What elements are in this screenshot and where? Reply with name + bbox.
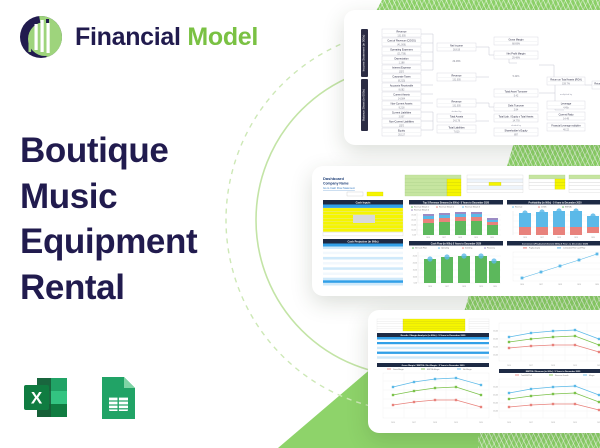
svg-text:Margin: Margin [589, 375, 595, 377]
svg-text:2018: 2018 [462, 286, 466, 288]
svg-text:4.49x: 4.49x [563, 107, 569, 109]
svg-text:Corporate Taxes: Corporate Taxes [392, 76, 411, 79]
svg-text:Cumulative Free Cash Flow: Cumulative Free Cash Flow [563, 247, 586, 250]
svg-text:Current Liabilities: Current Liabilities [392, 112, 412, 115]
svg-text:Operating Expenses: Operating Expenses [390, 49, 413, 52]
svg-text:2019: 2019 [574, 237, 578, 239]
svg-text:Revenue: Revenue [451, 75, 462, 78]
svg-text:Return on Equity (ROE): Return on Equity (ROE) [594, 83, 600, 86]
svg-text:Total Liab. / Equity x Total A: Total Liab. / Equity x Total Assets [499, 116, 535, 119]
svg-text:Total Assets: Total Assets [450, 116, 464, 119]
svg-text:2019: 2019 [474, 237, 478, 239]
svg-text:Balance Sheet (in 000s): Balance Sheet (in 000s) [362, 89, 366, 121]
svg-text:131,005: 131,005 [397, 35, 406, 37]
svg-text:divided by: divided by [511, 125, 522, 127]
svg-text:2020: 2020 [595, 284, 599, 286]
svg-text:divided by: divided by [452, 111, 463, 113]
screenshot-card-financial-tree[interactable]: Income Statement (in 000s) Balance Sheet… [344, 10, 600, 145]
svg-text:Gross Margin: Gross Margin [508, 39, 524, 42]
svg-text:Accounts Receivable: Accounts Receivable [390, 85, 414, 88]
brand-logo: Financial Model [18, 14, 258, 60]
svg-text:Depreciation: Depreciation [394, 58, 409, 61]
svg-text:Leverage: Leverage [561, 103, 572, 106]
svg-text:10,000: 10,000 [411, 230, 416, 232]
svg-text:Cash Inputs: Cash Inputs [356, 200, 371, 204]
svg-text:2020: 2020 [493, 286, 497, 288]
svg-text:2018: 2018 [551, 422, 555, 424]
svg-text:30,000: 30,000 [493, 403, 498, 405]
svg-text:Total EBITDA: Total EBITDA [521, 374, 533, 377]
svg-text:Go to Cash Flow Statement: Go to Cash Flow Statement [323, 186, 355, 190]
svg-text:Top 5 Revenue Streams (in 000s: Top 5 Revenue Streams (in 000s) - 5 Year… [423, 201, 490, 204]
google-sheets-icon[interactable] [92, 372, 144, 424]
svg-text:Interest Expense: Interest Expense [392, 67, 411, 70]
svg-text:Financial Leverage multiplier: Financial Leverage multiplier [551, 125, 580, 128]
svg-text:2019: 2019 [573, 365, 577, 367]
financial-tree-diagram: Income Statement (in 000s) Balance Sheet… [344, 10, 600, 145]
svg-text:5.42%: 5.42% [513, 75, 521, 78]
poster-canvas: Financial Model Boutique Music Equipment… [0, 0, 600, 448]
svg-text:2018: 2018 [433, 422, 437, 424]
dashboard-svg: Dashboard Company Name Go to Cash Flow S… [317, 171, 600, 291]
svg-text:2019: 2019 [573, 422, 577, 424]
file-format-icons: X [20, 372, 144, 424]
svg-text:Revenue Stream 3: Revenue Stream 3 [465, 206, 480, 209]
svg-text:2020: 2020 [479, 422, 483, 424]
excel-icon[interactable]: X [20, 372, 72, 424]
svg-text:Investment (Payback) Chart (in: Investment (Payback) Chart (in 000s) 5 Y… [522, 242, 589, 245]
svg-text:2016: 2016 [507, 422, 511, 424]
svg-text:10,000: 10,000 [413, 277, 417, 279]
screenshot-card-dashboard[interactable]: Dashboard Company Name Go to Cash Flow S… [312, 166, 600, 296]
report-svg: Results / Margin Analysis (in 000s) - 5 … [373, 315, 600, 428]
page-title-line-2: Music [20, 174, 260, 220]
svg-text:20,117: 20,117 [398, 134, 406, 136]
svg-text:Shareholder's Equity: Shareholder's Equity [505, 130, 529, 133]
svg-text:Revenue Stream 1: Revenue Stream 1 [414, 206, 429, 209]
svg-text:68.69%: 68.69% [512, 43, 520, 45]
svg-text:Investing: Investing [465, 247, 472, 250]
svg-text:30,000: 30,000 [493, 347, 498, 349]
svg-text:Return on Total Assets (ROA): Return on Total Assets (ROA) [550, 79, 582, 82]
svg-text:40.22: 40.22 [563, 129, 569, 131]
svg-text:(41,008): (41,008) [397, 44, 406, 46]
page-title-line-3: Equipment [20, 219, 260, 265]
svg-text:159.7%: 159.7% [562, 83, 570, 85]
svg-text:2016: 2016 [426, 237, 430, 239]
svg-text:5.42: 5.42 [514, 95, 519, 97]
svg-text:2019: 2019 [454, 422, 458, 424]
page-title-line-1: Boutique [20, 128, 260, 174]
svg-text:Cash Projection (in 000s): Cash Projection (in 000s) [348, 239, 379, 243]
svg-text:1,188: 1,188 [399, 62, 405, 64]
svg-text:15,000: 15,000 [413, 270, 417, 272]
svg-text:2016: 2016 [523, 237, 527, 239]
svg-text:14.49: 14.49 [563, 118, 569, 120]
svg-text:Cost of Revenue (COGS): Cost of Revenue (COGS) [387, 40, 416, 43]
svg-text:Total Liabilities: Total Liabilities [448, 127, 465, 130]
svg-text:Non-Current Liabilities: Non-Current Liabilities [389, 121, 414, 124]
svg-text:2017: 2017 [540, 237, 544, 239]
svg-text:Gross Margin / EBITDA / Net Ma: Gross Margin / EBITDA / Net Margin - 5 Y… [402, 364, 466, 367]
svg-text:40,000: 40,000 [493, 339, 498, 341]
svg-text:Financing: Financing [487, 248, 495, 250]
brand-name: Financial Model [75, 23, 258, 52]
svg-text:multiplied by: multiplied by [560, 93, 573, 96]
svg-text:20,000: 20,000 [493, 355, 498, 357]
svg-text:Company Name: Company Name [323, 182, 349, 186]
svg-text:2017: 2017 [539, 284, 543, 286]
svg-text:38,619: 38,619 [453, 49, 461, 51]
svg-text:2019: 2019 [479, 286, 483, 288]
svg-text:29.48%: 29.48% [452, 60, 461, 63]
svg-text:Total Asset Turnover: Total Asset Turnover [505, 91, 528, 94]
svg-text:Net Cash Flow: Net Cash Flow [415, 247, 427, 250]
svg-text:Net Margin: Net Margin [463, 368, 472, 371]
svg-text:7,610: 7,610 [454, 131, 460, 133]
brand-name-part2: Model [187, 23, 258, 51]
svg-text:(237): (237) [399, 71, 405, 73]
svg-text:Profitability (in 000s) - 5 Ye: Profitability (in 000s) - 5 Years to Dec… [529, 201, 583, 204]
svg-text:2017: 2017 [529, 422, 533, 424]
svg-text:Net Profit Margin: Net Profit Margin [507, 53, 526, 56]
financial-report-charts: Results / Margin Analysis (in 000s) - 5 … [368, 310, 600, 433]
svg-text:Revenue Growth: Revenue Growth [555, 374, 568, 377]
svg-text:Current Ratio: Current Ratio [559, 114, 574, 117]
svg-text:Operating: Operating [441, 247, 449, 250]
svg-text:5,000: 5,000 [414, 283, 418, 285]
svg-text:2016: 2016 [507, 365, 511, 367]
svg-text:(21,758): (21,758) [397, 53, 406, 55]
svg-text:40,000: 40,000 [493, 395, 498, 397]
svg-text:2016: 2016 [428, 286, 432, 288]
svg-text:Revenue: Revenue [396, 31, 407, 34]
svg-text:Current Assets: Current Assets [393, 94, 410, 97]
svg-text:2018: 2018 [558, 284, 562, 286]
svg-text:2020: 2020 [591, 237, 595, 239]
svg-text:29.48%: 29.48% [512, 57, 520, 59]
svg-text:2017: 2017 [442, 237, 446, 239]
svg-text:Debt Turnover: Debt Turnover [508, 105, 524, 108]
svg-text:131,005: 131,005 [452, 79, 461, 81]
svg-text:25,000: 25,000 [411, 215, 416, 217]
svg-text:(237): (237) [399, 125, 405, 127]
svg-text:2019: 2019 [577, 284, 581, 286]
svg-text:Revenue Stream 2: Revenue Stream 2 [439, 206, 454, 209]
svg-text:131,005: 131,005 [452, 105, 461, 107]
svg-text:15,000: 15,000 [411, 225, 416, 227]
svg-text:2018: 2018 [557, 237, 561, 239]
svg-text:2017: 2017 [445, 286, 449, 288]
svg-text:EBITDA: EBITDA [565, 206, 572, 209]
svg-text:2020: 2020 [490, 237, 494, 239]
svg-text:2017: 2017 [412, 422, 416, 424]
svg-text:Equity: Equity [398, 130, 406, 133]
svg-text:20,000: 20,000 [493, 411, 498, 413]
svg-text:2017: 2017 [529, 365, 533, 367]
svg-text:Payback (yrs): Payback (yrs) [529, 248, 540, 250]
dashboard-spreadsheet: Dashboard Company Name Go to Cash Flow S… [312, 166, 600, 296]
svg-text:2018: 2018 [458, 237, 462, 239]
svg-text:Results / Margin Analysis (in: Results / Margin Analysis (in 000s) - 5 … [401, 334, 467, 337]
brand-name-part1: Financial [75, 23, 181, 51]
circular-bar-chart-logo-icon [18, 14, 64, 60]
svg-text:2.84: 2.84 [514, 109, 519, 111]
svg-text:50,000: 50,000 [493, 331, 498, 333]
svg-text:14,084: 14,084 [398, 98, 406, 100]
svg-text:5,000: 5,000 [412, 235, 416, 237]
svg-text:Dashboard: Dashboard [323, 176, 344, 181]
page-title: Boutique Music Equipment Rental [20, 128, 260, 310]
svg-text:9,218: 9,218 [399, 107, 405, 109]
svg-text:2016: 2016 [520, 284, 524, 286]
svg-text:Net Income: Net Income [450, 45, 463, 48]
svg-text:Non-Current Assets: Non-Current Assets [391, 103, 414, 106]
svg-text:Cash Flow (in 000s) 5 Years to: Cash Flow (in 000s) 5 Years to December … [431, 242, 482, 245]
svg-text:14,778: 14,778 [512, 120, 520, 122]
svg-text:Gross Margin: Gross Margin [393, 369, 404, 371]
svg-text:25,000: 25,000 [413, 256, 417, 258]
svg-text:X: X [31, 389, 43, 408]
svg-text:3,907: 3,907 [399, 116, 405, 118]
svg-text:EBITDA / Revenue (in 000s) - 5: EBITDA / Revenue (in 000s) - 5 Years to … [526, 370, 581, 373]
tree-svg: Income Statement (in 000s) Balance Sheet… [349, 15, 600, 140]
screenshot-card-report[interactable]: Results / Margin Analysis (in 000s) - 5 … [368, 310, 600, 433]
svg-text:20,000: 20,000 [413, 263, 417, 265]
page-title-line-4: Rental [20, 265, 260, 311]
svg-text:(9,215): (9,215) [398, 80, 406, 82]
svg-text:50,000: 50,000 [493, 387, 498, 389]
svg-text:Income Statement (in 000s): Income Statement (in 000s) [362, 35, 366, 72]
svg-text:Revenue: Revenue [515, 207, 522, 209]
svg-text:8,082: 8,082 [399, 89, 405, 91]
svg-text:20,000: 20,000 [411, 220, 416, 222]
svg-text:COGS: COGS [541, 207, 547, 209]
svg-text:Revenue: Revenue [451, 101, 462, 104]
svg-text:EBITDA Margin: EBITDA Margin [427, 368, 439, 371]
svg-text:24,178: 24,178 [453, 120, 461, 122]
svg-text:2016: 2016 [391, 422, 395, 424]
svg-text:Revenue Stream 4: Revenue Stream 4 [414, 209, 429, 212]
svg-text:2018: 2018 [551, 365, 555, 367]
